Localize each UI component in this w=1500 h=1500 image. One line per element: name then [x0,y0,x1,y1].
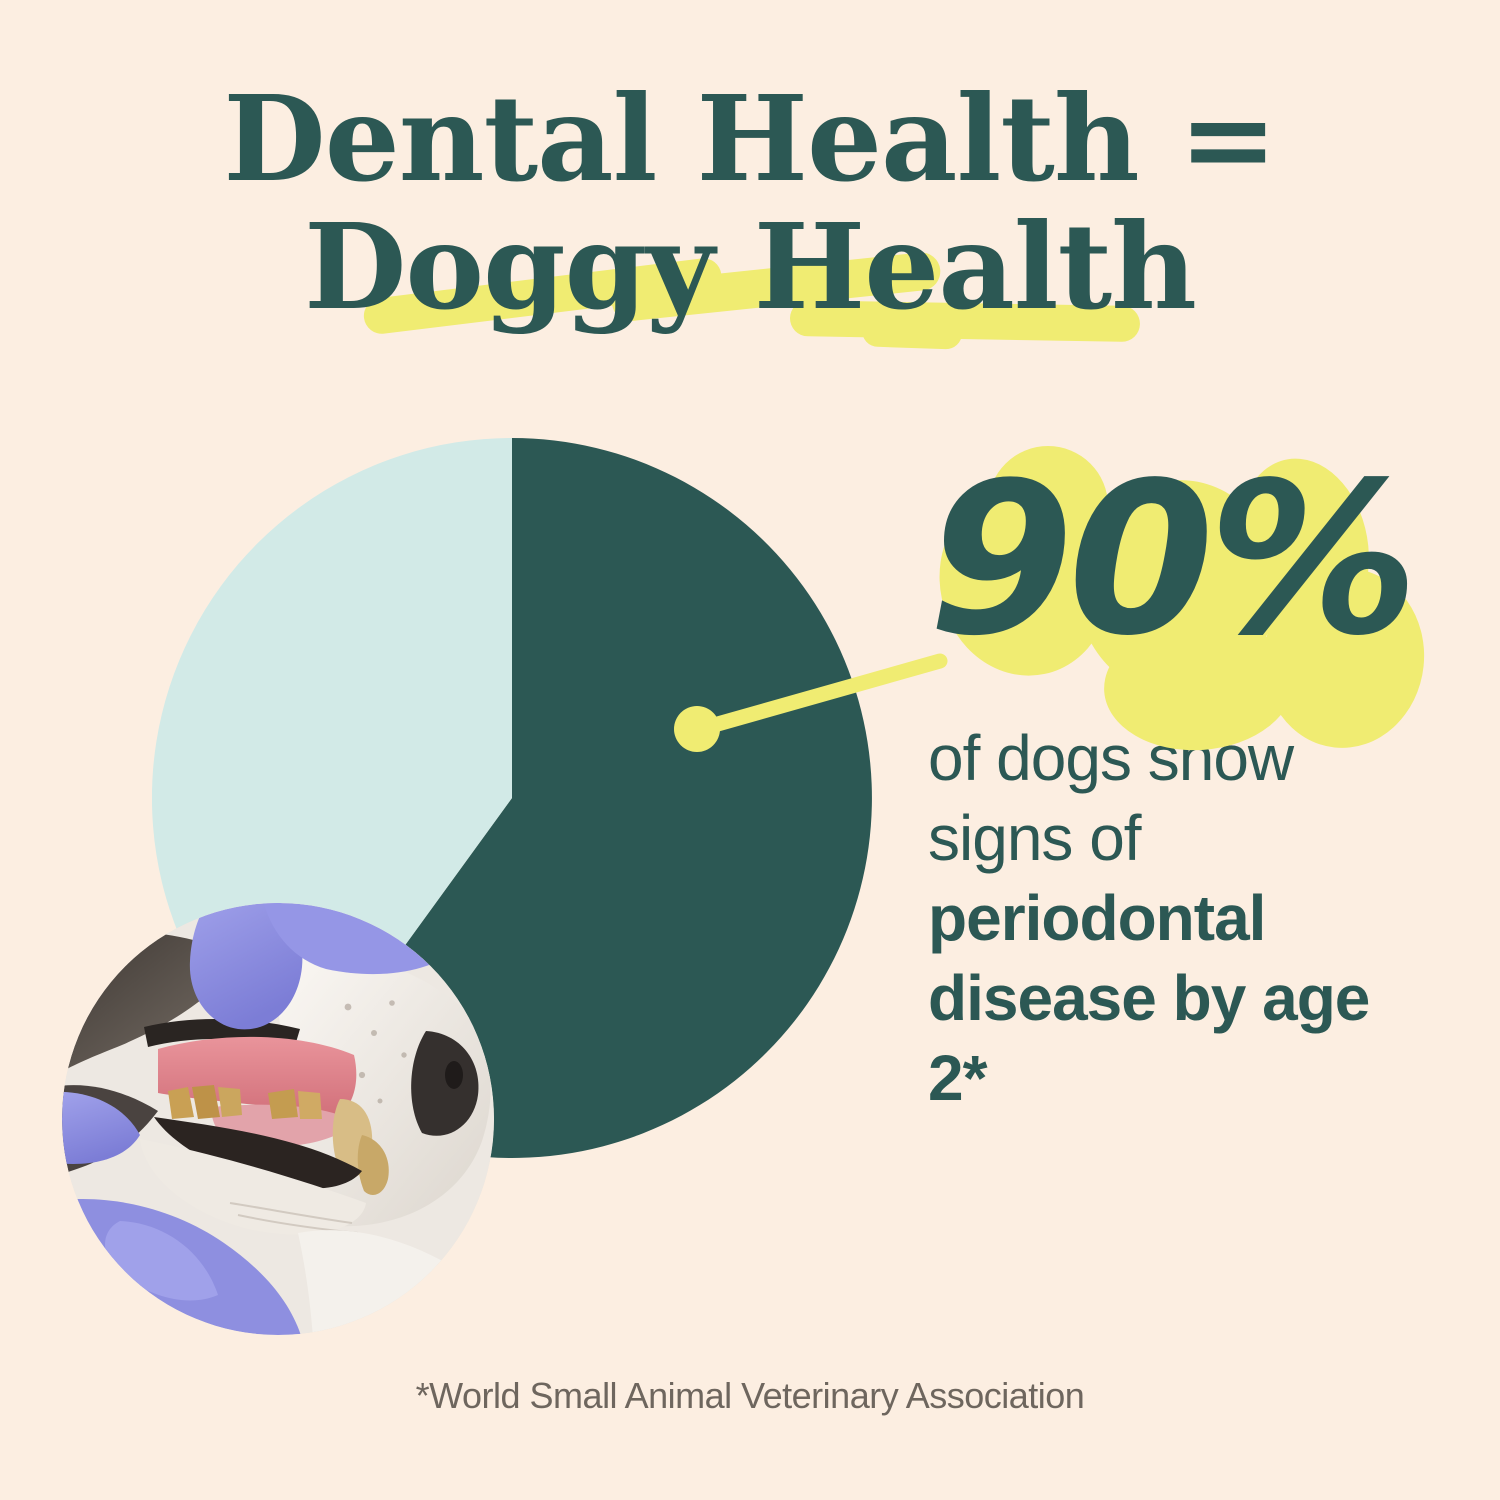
percent-value: 90% [928,440,1413,680]
stat-description: of dogs show signs of periodontal diseas… [928,718,1428,1118]
stat-description-bold: periodontal disease by age 2* [928,882,1369,1114]
dog-dental-photo [62,903,494,1335]
percent-callout: 90% [928,440,1428,708]
stat-block: 90% of dogs show signs of periodontal di… [928,440,1428,1118]
photo-content [62,903,494,1335]
infographic-canvas: Dental Health = Doggy Health [0,0,1500,1500]
source-footnote: *World Small Animal Veterinary Associati… [0,1374,1500,1418]
title-line-1: Dental Health = [0,78,1500,200]
stat-description-light: of dogs show signs of [928,722,1293,874]
page-title: Dental Health = Doggy Health [0,78,1500,328]
dog-dental-photo-illustration [62,903,494,1335]
nostril [445,1061,463,1089]
towel-bottom-right [298,1230,494,1335]
title-line-2: Doggy Health [0,206,1500,328]
